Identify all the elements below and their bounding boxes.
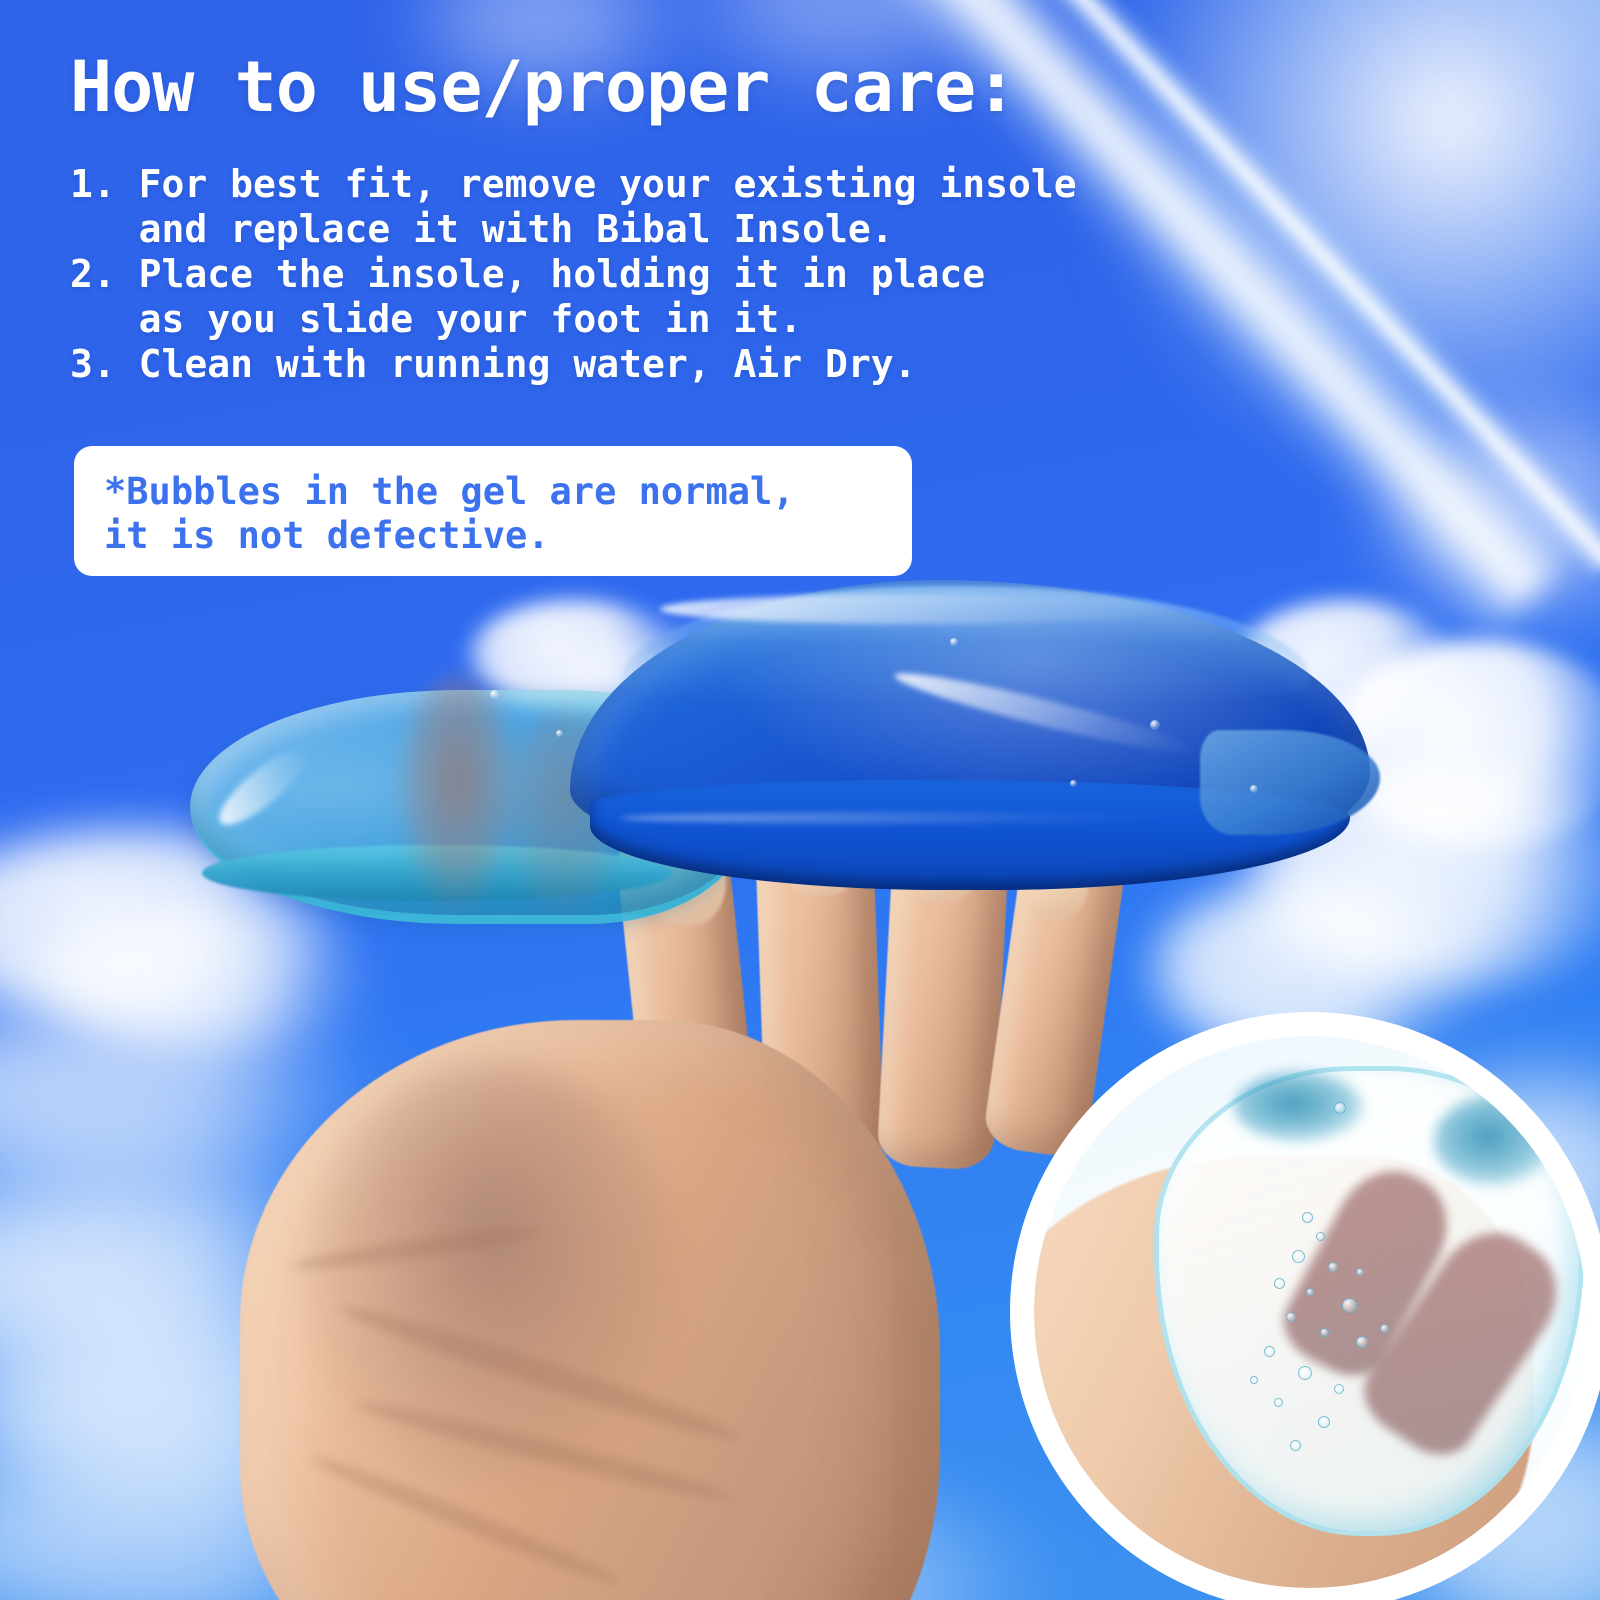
micro-bubble-10	[1356, 1336, 1368, 1348]
micro-bubble-5	[1274, 1278, 1285, 1289]
micro-bubble-15	[1318, 1416, 1330, 1428]
instruction-list: 1. For best fit, remove your existing in…	[70, 162, 1200, 387]
bubbles-note-callout: *Bubbles in the gel are normal, it is no…	[74, 446, 912, 576]
micro-bubble-12	[1298, 1366, 1312, 1380]
micro-bubble-4	[1328, 1262, 1338, 1272]
finger-behind-heel	[400, 675, 515, 905]
infographic-canvas: How to use/proper care: 1. For best fit,…	[0, 0, 1600, 1600]
micro-bubble-7	[1342, 1298, 1357, 1313]
micro-bubble-9	[1320, 1328, 1329, 1337]
bubble-closeup-inset	[1010, 1012, 1600, 1600]
micro-bubble-16	[1356, 1268, 1364, 1276]
instruction-line: as you slide your foot in it.	[70, 297, 1200, 342]
micro-bubble-3	[1292, 1250, 1305, 1263]
micro-bubble-2	[1316, 1232, 1325, 1241]
micro-bubble-18	[1250, 1376, 1258, 1384]
instruction-line: 2. Place the insole, holding it in place	[70, 252, 1200, 297]
instruction-line: 3. Clean with running water, Air Dry.	[70, 342, 1200, 387]
micro-bubble-14	[1274, 1398, 1283, 1407]
callout-line-2: it is not defective.	[104, 514, 882, 558]
micro-bubble-6	[1306, 1288, 1314, 1296]
micro-bubble-13	[1334, 1384, 1344, 1394]
micro-bubble-20	[1334, 1102, 1346, 1114]
micro-bubble-8	[1286, 1312, 1296, 1322]
inset-photo	[1034, 1036, 1586, 1588]
inset-dark-blob-right	[1434, 1096, 1554, 1186]
callout-line-1: *Bubbles in the gel are normal,	[104, 470, 882, 514]
micro-bubble-1	[1302, 1212, 1313, 1223]
micro-bubble-11	[1264, 1346, 1275, 1357]
instruction-line: 1. For best fit, remove your existing in…	[70, 162, 1200, 207]
insole-toe-tip	[1200, 730, 1380, 835]
micro-bubble-19	[1290, 1440, 1301, 1451]
gel-insole	[190, 580, 1360, 910]
instruction-line: and replace it with Bibal Insole.	[70, 207, 1200, 252]
micro-bubble-17	[1380, 1324, 1389, 1333]
insole-top-lip	[620, 586, 1310, 706]
page-title: How to use/proper care:	[70, 46, 1016, 128]
